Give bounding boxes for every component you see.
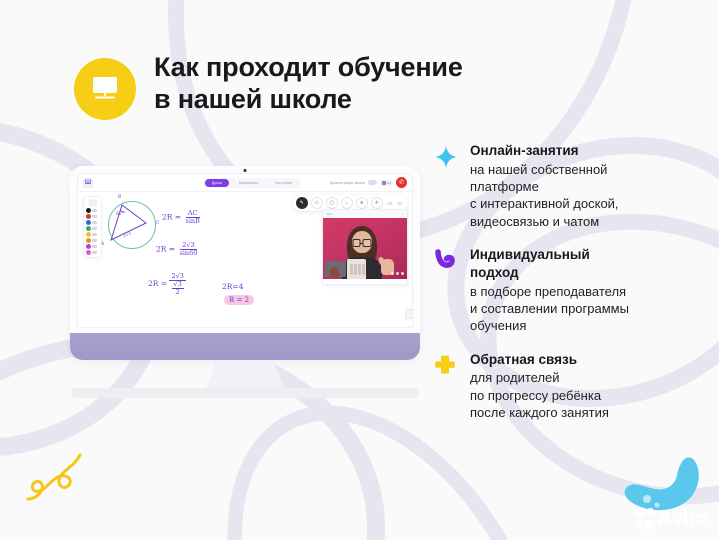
four-point-star-icon	[434, 143, 460, 230]
pip-person	[330, 267, 339, 277]
equation-1: 2R = AC sinB	[162, 210, 202, 225]
feature-title-2: подход	[470, 265, 714, 282]
feature-desc-line: после каждого занятия	[470, 404, 714, 421]
circle-icon[interactable]: ●	[356, 197, 368, 209]
end-call-button[interactable]: ✆	[396, 177, 407, 188]
participants-count: 2/2	[387, 181, 391, 185]
monitor-screen: Ш Доска Материалы Настройки Демонстрация…	[77, 173, 413, 328]
palette-row[interactable]	[85, 226, 101, 231]
palette-row[interactable]	[85, 208, 101, 213]
fraction-3: 2√3 √3 2	[169, 273, 185, 295]
feature-text: Индивидуальный подход в подборе преподав…	[470, 247, 714, 335]
triangle-figure	[108, 201, 154, 247]
video-stage	[323, 218, 407, 279]
eraser-icon[interactable]: ◇	[311, 197, 323, 209]
feature-text: Онлайн-занятия на нашей собственной плат…	[470, 143, 714, 230]
feature-desc-line: в подборе преподавателя	[470, 283, 714, 300]
crescent-icon	[434, 247, 460, 335]
feature-desc-line: обучения	[470, 317, 714, 334]
webcam-dot	[244, 169, 247, 172]
feature-title: Онлайн-занятия	[470, 143, 714, 160]
app-logo-icon[interactable]: Ш	[83, 178, 93, 188]
share-screen-label: Демонстрация экрана	[330, 181, 365, 185]
fraction-2: 2√3 sin60	[177, 242, 199, 257]
square-icon[interactable]: ▢	[326, 197, 338, 209]
monitor-neck	[206, 360, 284, 388]
yellow-spiral-doodle	[24, 451, 86, 518]
feature-item-online: Онлайн-занятия на нашей собственной плат…	[434, 143, 714, 230]
tab-materials[interactable]: Материалы	[232, 179, 265, 187]
picture-in-picture[interactable]	[325, 261, 346, 277]
monitor-icon	[90, 76, 120, 102]
header: Как проходит обучение в нашей школе	[74, 52, 463, 120]
feature-desc-line: платформе	[470, 178, 714, 195]
topbar-right: Демонстрация экрана 2/2 ✆	[330, 177, 407, 188]
feature-desc-line: по прогрессу ребёнка	[470, 387, 714, 404]
redo-icon[interactable]: ⌦	[396, 201, 404, 206]
avito-watermark: Avito	[635, 507, 707, 531]
participants-chip[interactable]: 2/2	[380, 180, 393, 186]
fraction-1: AC sinB	[183, 210, 201, 225]
tab-settings[interactable]: Настройки	[268, 179, 300, 187]
monitor-chin	[70, 333, 420, 360]
equation-2: 2R = 2√3 sin60	[156, 242, 199, 257]
feature-desc: для родителей по прогрессу ребёнка после…	[470, 369, 714, 421]
app-tabs: Доска Материалы Настройки	[203, 178, 301, 188]
feature-item-feedback: Обратная связь для родителей по прогресс…	[434, 352, 714, 422]
monitor-mockup: Ш Доска Материалы Настройки Демонстрация…	[70, 166, 420, 398]
feature-desc: на нашей собственной платформе с интерак…	[470, 161, 714, 230]
glasses-icon	[352, 240, 371, 246]
vertex-b-label: B	[118, 195, 121, 200]
page-title: Как проходит обучение в нашей школе	[154, 52, 463, 116]
more-icon[interactable]: ⋯	[401, 212, 404, 216]
feature-text: Обратная связь для родителей по прогресс…	[470, 352, 714, 422]
nested-fraction: √3 2	[170, 281, 186, 296]
whiteboard[interactable]: B A C 60° 2√3 2R = AC sinB	[78, 192, 412, 328]
title-line-1: Как проходит обучение	[154, 52, 463, 84]
palette-row[interactable]	[85, 214, 101, 219]
feature-desc-line: и составлении программы	[470, 300, 714, 317]
monitor-base	[71, 388, 419, 398]
title-line-2: в нашей школе	[154, 84, 463, 116]
feature-title: Индивидуальный	[470, 247, 714, 264]
angle-label: 60°	[116, 212, 124, 217]
palette-row[interactable]	[85, 238, 101, 243]
promo-banner: Как проходит обучение в нашей школе Онла…	[0, 0, 719, 540]
avito-logo-icon	[635, 508, 654, 530]
feature-desc-line: видеосвязью и чатом	[470, 213, 714, 230]
palette-row[interactable]	[85, 220, 101, 225]
feature-desc-line: с интерактивной доской,	[470, 195, 714, 212]
monitor-body: Ш Доска Материалы Настройки Демонстрация…	[70, 166, 420, 360]
plus-icon[interactable]: ✛	[371, 197, 383, 209]
feature-desc: в подборе преподавателя и составлении пр…	[470, 283, 714, 335]
plus-icon	[434, 352, 460, 422]
vertex-a-label: A	[101, 242, 104, 247]
logo-badge	[74, 58, 136, 120]
equation-3: 2R = 2√3 √3 2	[148, 273, 186, 295]
feature-item-individual: Индивидуальный подход в подборе преподав…	[434, 247, 714, 335]
palette-row[interactable]	[85, 244, 101, 249]
video-panel-header: Урок ⋯	[323, 210, 407, 218]
app-topbar: Ш Доска Материалы Настройки Демонстрация…	[78, 174, 412, 192]
scroll-handle[interactable]	[405, 309, 413, 319]
result-2r: 2R=4	[222, 282, 243, 291]
tab-board[interactable]: Доска	[205, 179, 229, 187]
math-notes: B A C 60° 2√3 2R = AC sinB	[100, 194, 320, 327]
share-screen-toggle[interactable]	[368, 180, 377, 185]
feature-desc-line: для родителей	[470, 369, 714, 386]
lock-icon[interactable]	[89, 199, 97, 206]
avito-wordmark: Avito	[658, 507, 707, 531]
vertex-c-label: C	[156, 221, 159, 226]
participants-icon	[382, 181, 386, 185]
background-shelf	[347, 259, 366, 279]
feature-title: Обратная связь	[470, 352, 714, 369]
feature-desc-line: на нашей собственной	[470, 161, 714, 178]
palette-row[interactable]	[85, 232, 101, 237]
feature-list: Онлайн-занятия на нашей собственной плат…	[434, 143, 714, 438]
undo-icon[interactable]: ⌫	[386, 201, 394, 206]
video-panel-footer	[323, 279, 407, 284]
pen-icon[interactable]: ✎	[296, 197, 308, 209]
palette-row[interactable]	[85, 250, 101, 255]
arrow-icon[interactable]: ↔	[341, 197, 353, 209]
result-r-highlighted: R = 2	[224, 295, 254, 305]
video-title: Урок	[326, 212, 332, 216]
video-call-panel[interactable]: Урок ⋯	[322, 209, 408, 285]
video-controls[interactable]	[391, 272, 405, 276]
